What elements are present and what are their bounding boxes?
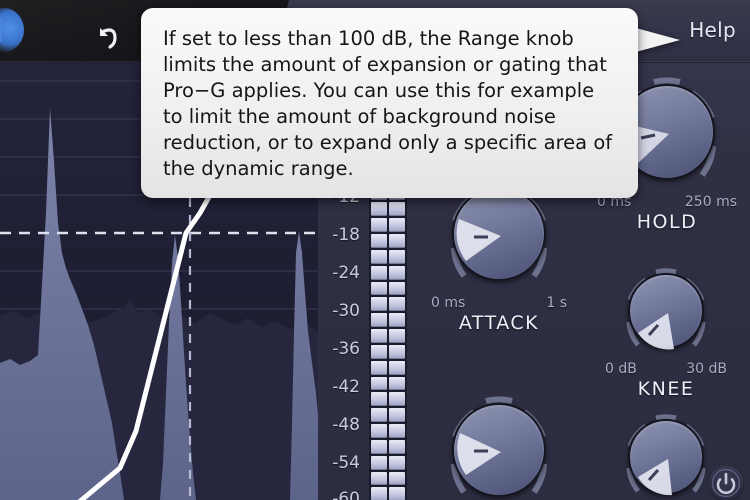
led-segment bbox=[371, 266, 387, 280]
led-segment bbox=[371, 377, 387, 391]
led-segment bbox=[371, 297, 387, 311]
knee-knob[interactable] bbox=[619, 264, 713, 358]
led-segment bbox=[389, 345, 405, 359]
knee-max-label: 30 dB bbox=[686, 361, 727, 377]
db-tick: -60 bbox=[318, 489, 360, 500]
led-segment bbox=[371, 440, 387, 454]
led-segment bbox=[371, 329, 387, 343]
db-tick: -30 bbox=[318, 301, 360, 321]
help-tooltip: If set to less than 100 dB, the Range kn… bbox=[141, 8, 638, 198]
led-segment bbox=[389, 234, 405, 248]
db-tick: -54 bbox=[318, 453, 360, 473]
led-segment bbox=[371, 313, 387, 327]
led-segment bbox=[389, 282, 405, 296]
attack-knob-indicator bbox=[454, 189, 548, 283]
release-knob-body[interactable] bbox=[452, 403, 546, 497]
led-segment bbox=[389, 218, 405, 232]
logo-inner-glyph bbox=[0, 18, 2, 42]
led-segment bbox=[371, 345, 387, 359]
release-knob-indicator bbox=[454, 405, 548, 499]
attack-knob-label: ATTACK bbox=[431, 312, 567, 334]
power-icon bbox=[709, 466, 743, 500]
led-segment bbox=[389, 266, 405, 280]
led-segment bbox=[389, 377, 405, 391]
led-segment bbox=[389, 424, 405, 438]
db-tick: -42 bbox=[318, 377, 360, 397]
knee-knob-label: KNEE bbox=[605, 378, 727, 400]
knee-min-label: 0 dB bbox=[605, 361, 637, 377]
attack-knob-body[interactable] bbox=[452, 187, 546, 281]
led-segment bbox=[389, 440, 405, 454]
hold-knob-label: HOLD bbox=[597, 211, 737, 233]
led-segment bbox=[371, 234, 387, 248]
attack-max-label: 1 s bbox=[546, 295, 567, 311]
led-segment bbox=[371, 408, 387, 422]
db-tick: -24 bbox=[318, 263, 360, 283]
led-segment bbox=[371, 456, 387, 470]
attack-knob-range: 0 ms 1 s bbox=[431, 295, 567, 311]
knob-group-attack: 0 ms 1 s ATTACK bbox=[431, 176, 567, 334]
led-segment bbox=[389, 313, 405, 327]
led-segment bbox=[371, 282, 387, 296]
led-segment bbox=[389, 361, 405, 375]
ratio-knob-body[interactable] bbox=[628, 419, 704, 495]
led-segment bbox=[371, 487, 387, 500]
led-segment bbox=[389, 329, 405, 343]
undo-arrow-svg bbox=[88, 22, 124, 52]
tooltip-text: If set to less than 100 dB, the Range kn… bbox=[163, 26, 616, 182]
db-tick: -48 bbox=[318, 415, 360, 435]
led-segment bbox=[371, 472, 387, 486]
db-tick: -18 bbox=[318, 225, 360, 245]
led-segment bbox=[371, 424, 387, 438]
knob-group-release bbox=[431, 392, 567, 500]
release-knob[interactable] bbox=[441, 392, 557, 500]
led-segment bbox=[371, 392, 387, 406]
led-segment bbox=[389, 472, 405, 486]
knob-group-knee: 0 dB 30 dB KNEE bbox=[605, 264, 727, 400]
tooltip-pointer bbox=[636, 28, 680, 52]
led-segment bbox=[389, 250, 405, 264]
knee-knob-body[interactable] bbox=[628, 273, 704, 349]
knee-knob-indicator bbox=[630, 275, 706, 351]
ratio-knob-indicator bbox=[630, 421, 706, 497]
knee-knob-range: 0 dB 30 dB bbox=[605, 361, 727, 377]
led-segment bbox=[389, 408, 405, 422]
led-segment bbox=[371, 250, 387, 264]
help-button[interactable]: Help bbox=[689, 18, 736, 42]
led-segment bbox=[371, 202, 387, 216]
ratio-knob[interactable] bbox=[619, 410, 713, 500]
led-segment bbox=[389, 487, 405, 500]
led-segment bbox=[371, 218, 387, 232]
db-tick: -36 bbox=[318, 339, 360, 359]
led-segment bbox=[371, 361, 387, 375]
led-segment bbox=[389, 297, 405, 311]
undo-arrow-icon[interactable] bbox=[88, 22, 124, 52]
power-button[interactable] bbox=[709, 466, 743, 500]
led-segment bbox=[389, 456, 405, 470]
attack-min-label: 0 ms bbox=[431, 295, 465, 311]
hold-max-label: 250 ms bbox=[685, 194, 737, 210]
pro-g-plugin-window: Help bbox=[0, 0, 750, 500]
led-segment bbox=[389, 202, 405, 216]
led-segment bbox=[389, 392, 405, 406]
